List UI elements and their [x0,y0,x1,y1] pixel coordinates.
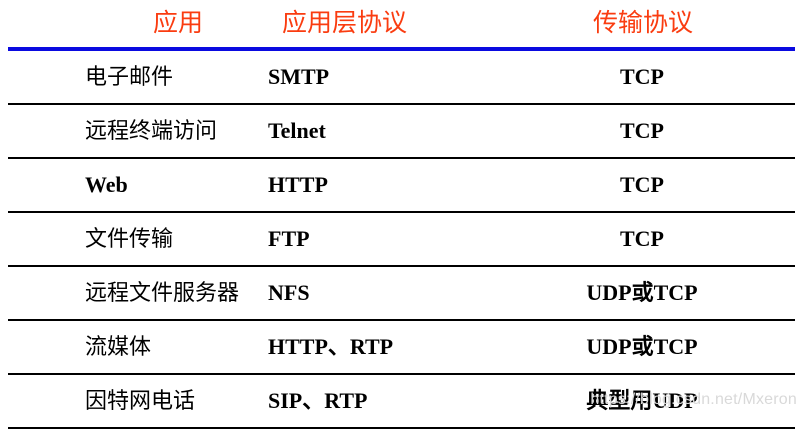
cell-application-text: 文件传输 [8,225,258,253]
cell-protocol: Telnet [258,104,473,158]
cell-protocol: SMTP [258,49,473,104]
table-header-row: 应用 应用层协议 传输协议 [8,0,795,49]
cell-application-text: 因特网电话 [8,387,258,415]
cell-protocol-text: SMTP [258,63,473,91]
column-header-application-layer-protocol-label: 应用层协议 [258,9,473,39]
cell-protocol: NFS [258,266,473,320]
cell-protocol: FTP [258,212,473,266]
table-row: 因特网电话 SIP、RTP 典型用UDP [8,374,795,428]
cell-transport: 典型用UDP [473,374,795,428]
table-row: 远程终端访问 Telnet TCP [8,104,795,158]
table-row: 文件传输 FTP TCP [8,212,795,266]
cell-protocol-text: HTTP [258,171,473,199]
cell-protocol-text: HTTP、RTP [258,333,473,361]
table-body: 电子邮件 SMTP TCP 远程终端访问 Telnet TCP [8,49,795,428]
cell-transport-text: TCP [473,225,795,253]
cell-transport-text: 典型用UDP [473,387,795,415]
cell-transport: TCP [473,158,795,212]
cell-application: 流媒体 [8,320,258,374]
cell-application-text: 电子邮件 [8,63,258,91]
protocol-table-container: 应用 应用层协议 传输协议 电子邮件 SMTP TCP [0,0,805,421]
cell-application-text: 远程文件服务器 [8,279,258,307]
cell-application: Web [8,158,258,212]
cell-application: 文件传输 [8,212,258,266]
column-header-application-label: 应用 [8,9,258,39]
cell-application-text: 远程终端访问 [8,117,258,145]
cell-application: 电子邮件 [8,49,258,104]
cell-protocol-text: NFS [258,279,473,307]
cell-transport: UDP或TCP [473,320,795,374]
cell-transport-text: UDP或TCP [473,279,795,307]
cell-transport: TCP [473,212,795,266]
table-header: 应用 应用层协议 传输协议 [8,0,795,49]
column-header-transport-protocol: 传输协议 [473,0,795,49]
column-header-application-layer-protocol: 应用层协议 [258,0,473,49]
column-header-transport-protocol-label: 传输协议 [473,9,795,39]
cell-application: 远程终端访问 [8,104,258,158]
cell-protocol: HTTP [258,158,473,212]
cell-protocol-text: FTP [258,225,473,253]
table-row: 流媒体 HTTP、RTP UDP或TCP [8,320,795,374]
cell-transport-text: TCP [473,63,795,91]
cell-application-text: 流媒体 [8,333,258,361]
cell-protocol: SIP、RTP [258,374,473,428]
column-header-application: 应用 [8,0,258,49]
cell-transport: TCP [473,49,795,104]
cell-transport-text: UDP或TCP [473,333,795,361]
cell-transport: UDP或TCP [473,266,795,320]
cell-transport: TCP [473,104,795,158]
table-row: Web HTTP TCP [8,158,795,212]
cell-transport-text: TCP [473,171,795,199]
cell-transport-text: TCP [473,117,795,145]
cell-application-text: Web [8,171,258,199]
cell-application: 远程文件服务器 [8,266,258,320]
table-row: 远程文件服务器 NFS UDP或TCP [8,266,795,320]
cell-protocol-text: Telnet [258,117,473,145]
application-protocol-table: 应用 应用层协议 传输协议 电子邮件 SMTP TCP [8,0,795,429]
cell-application: 因特网电话 [8,374,258,428]
cell-protocol: HTTP、RTP [258,320,473,374]
table-row: 电子邮件 SMTP TCP [8,49,795,104]
cell-protocol-text: SIP、RTP [258,387,473,415]
